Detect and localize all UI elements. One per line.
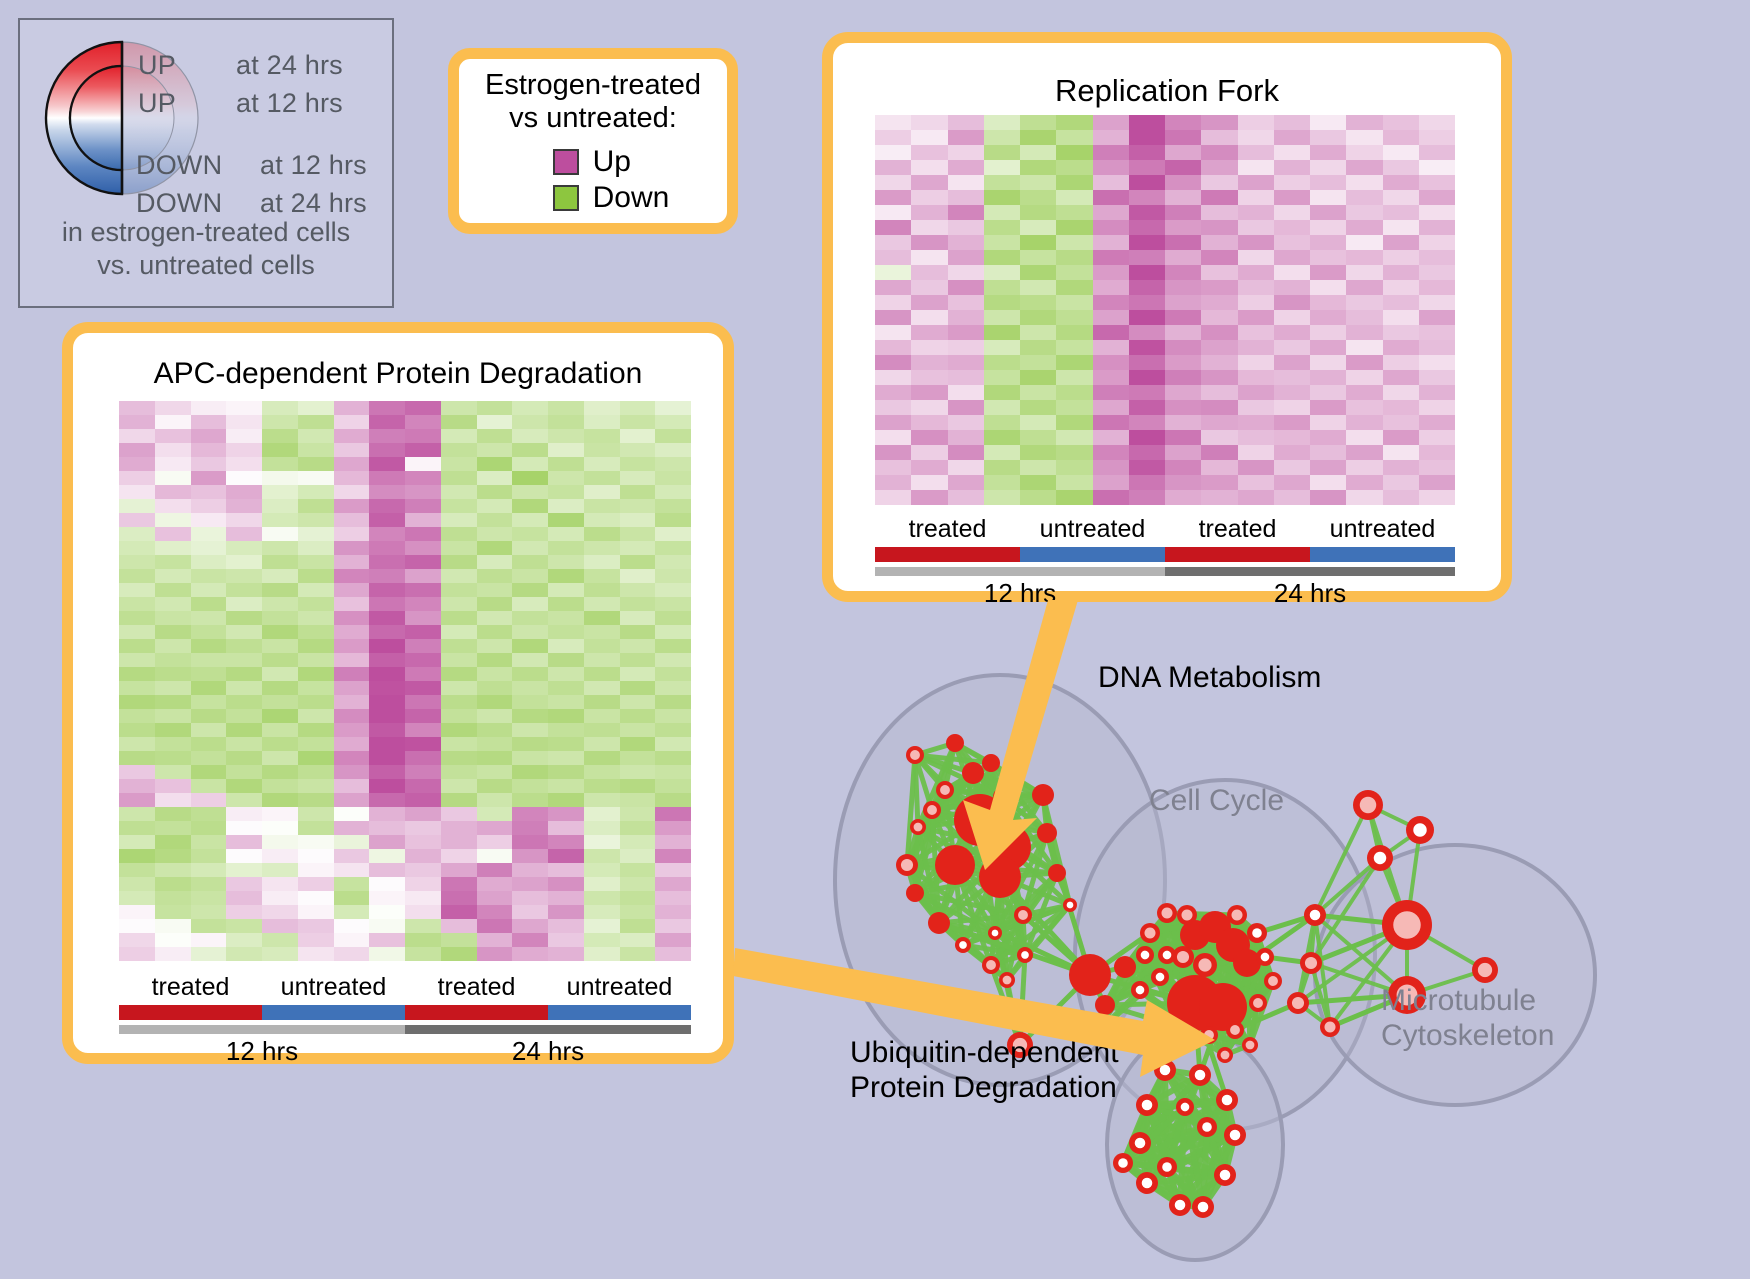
heatmap-cell	[548, 457, 584, 471]
heatmap-cell	[1020, 310, 1056, 325]
heatmap-cell	[369, 499, 405, 513]
heatmap-cell	[1383, 250, 1419, 265]
heatmap-cell	[655, 457, 691, 471]
heatmap-cell	[512, 905, 548, 919]
heatmap-cell	[655, 555, 691, 569]
heatmap-cell	[548, 723, 584, 737]
heatmap-cell	[512, 415, 548, 429]
heatmap-cell	[119, 415, 155, 429]
heatmap-cell	[334, 401, 370, 415]
heatmap-cell	[441, 695, 477, 709]
heatmap-cell	[1129, 190, 1165, 205]
heatmap-cell	[226, 933, 262, 947]
heatmap-cell	[1383, 325, 1419, 340]
heatmap-cell	[262, 709, 298, 723]
heatmap-cell	[334, 457, 370, 471]
heatmap-cell	[119, 499, 155, 513]
heatmap-cell	[548, 583, 584, 597]
cluster-label-dna-metabolism: DNA Metabolism	[1098, 660, 1321, 695]
heatmap-cell	[155, 807, 191, 821]
heatmap-cell	[369, 667, 405, 681]
heatmap-cell	[226, 751, 262, 765]
heatmap-cell	[155, 429, 191, 443]
heatmap-cell	[226, 863, 262, 877]
heatmap-cell	[298, 863, 334, 877]
heatmap-cell	[984, 265, 1020, 280]
sample-group-bar	[1165, 547, 1310, 562]
heatmap-cell	[155, 695, 191, 709]
heatmap-cell	[1383, 310, 1419, 325]
heatmap-cell	[477, 723, 513, 737]
heatmap-cell	[119, 737, 155, 751]
heatmap-cell	[1093, 370, 1129, 385]
network-node-core	[1310, 910, 1321, 921]
heatmap-cell	[1310, 340, 1346, 355]
heatmap-cell	[405, 919, 441, 933]
heatmap-cell	[1201, 145, 1237, 160]
heatmap-cell	[548, 765, 584, 779]
heatmap-cell	[1020, 385, 1056, 400]
heatmap-cell	[119, 513, 155, 527]
heatmap-cell	[1093, 460, 1129, 475]
heatmap-cell	[191, 947, 227, 961]
heatmap-cell	[155, 765, 191, 779]
heatmap-cell	[155, 751, 191, 765]
heatmap-cell	[584, 667, 620, 681]
heatmap-cell	[548, 541, 584, 555]
heatmap-cell	[1310, 490, 1346, 505]
heatmap-cell	[911, 370, 947, 385]
heatmap-cell	[441, 821, 477, 835]
heatmap-cell	[1129, 325, 1165, 340]
network-node-core	[1292, 997, 1304, 1009]
heatmap-cell	[584, 513, 620, 527]
heatmap-cell	[477, 695, 513, 709]
heatmap-cell	[875, 295, 911, 310]
heatmap-cell	[620, 807, 656, 821]
network-node-core	[1136, 986, 1145, 995]
heatmap-cell	[548, 849, 584, 863]
network-node	[962, 762, 984, 784]
network-node-core	[1261, 953, 1270, 962]
heatmap-cell	[655, 639, 691, 653]
heatmap-cell	[512, 639, 548, 653]
heatmap-cell	[1310, 400, 1346, 415]
network-node-core	[1135, 1138, 1146, 1149]
heatmap-cell	[226, 569, 262, 583]
heatmap-cell	[1346, 280, 1382, 295]
heatmap-cell	[1383, 265, 1419, 280]
heatmap-cell	[1129, 340, 1165, 355]
network-node-core	[959, 941, 967, 949]
heatmap-cell	[477, 863, 513, 877]
time-group-bar	[1165, 567, 1455, 576]
heatmap-cell	[1238, 190, 1274, 205]
heatmap-cell	[298, 653, 334, 667]
heatmap-cell	[655, 569, 691, 583]
heatmap-cell	[441, 471, 477, 485]
network-node-core	[992, 930, 999, 937]
heatmap-cell	[334, 443, 370, 457]
heatmap-cell	[334, 877, 370, 891]
heatmap-cell	[984, 445, 1020, 460]
heatmap-cell	[620, 471, 656, 485]
heatmap-cell	[119, 569, 155, 583]
heatmap-cell	[911, 160, 947, 175]
cluster-label-ubiquitin: Ubiquitin-dependent Protein Degradation	[850, 1035, 1119, 1106]
heatmap-cell	[512, 779, 548, 793]
heatmap-cell	[620, 737, 656, 751]
heatmap-cell	[875, 475, 911, 490]
heatmap-cell	[655, 807, 691, 821]
heatmap-cell	[1238, 355, 1274, 370]
heatmap-cell	[984, 160, 1020, 175]
heatmap-cell	[1310, 415, 1346, 430]
heatmap-cell	[548, 877, 584, 891]
heatmap-cell	[1056, 265, 1092, 280]
heatmap-cell	[441, 625, 477, 639]
heatmap-cell	[155, 443, 191, 457]
cluster-label-microtubule-line2: Cytoskeleton	[1381, 1018, 1554, 1053]
heatmap-cell	[1383, 280, 1419, 295]
heatmap-cell	[119, 779, 155, 793]
heatmap-cell	[1383, 490, 1419, 505]
heatmap-cell	[584, 919, 620, 933]
cluster-label-ubiquitin-line2: Protein Degradation	[850, 1070, 1119, 1105]
heatmap-cell	[1129, 355, 1165, 370]
network-node-core	[1175, 1200, 1186, 1211]
heatmap-cell	[369, 905, 405, 919]
network-node	[906, 884, 924, 902]
heatmap-cell	[548, 429, 584, 443]
updown-legend-title-line1: Estrogen-treated	[485, 69, 701, 102]
network-node-core	[1142, 1178, 1153, 1189]
heatmap-cell	[911, 250, 947, 265]
heatmap-cell	[477, 597, 513, 611]
heatmap-cell	[1165, 205, 1201, 220]
heatmap-cell	[620, 639, 656, 653]
heatmap-cell	[1310, 160, 1346, 175]
heatmap-cell	[1238, 475, 1274, 490]
heatmap-cell	[441, 765, 477, 779]
heatmap-cell	[1129, 280, 1165, 295]
heatmap-cell	[1346, 220, 1382, 235]
heatmap-cell	[298, 695, 334, 709]
heatmap-cell	[655, 541, 691, 555]
heatmap-cell	[405, 541, 441, 555]
heatmap-cell	[1419, 325, 1455, 340]
heatmap-cell	[584, 807, 620, 821]
heatmap-cell	[1346, 160, 1382, 175]
heatmap-cell	[1093, 205, 1129, 220]
heatmap-cell	[655, 429, 691, 443]
heatmap-cell	[119, 443, 155, 457]
heatmap-cell	[1056, 145, 1092, 160]
heatmap-cell	[226, 611, 262, 625]
heatmap-cell	[334, 933, 370, 947]
heatmap-cell	[512, 765, 548, 779]
heatmap-cell	[119, 793, 155, 807]
heatmap-cell	[191, 765, 227, 779]
heatmap-cell	[1238, 205, 1274, 220]
time-group-bar	[405, 1025, 691, 1034]
heatmap-cell	[655, 597, 691, 611]
heatmap-cell	[655, 415, 691, 429]
heatmap-cell	[1093, 280, 1129, 295]
heatmap-cell	[1419, 250, 1455, 265]
heatmap-cell	[441, 905, 477, 919]
heatmap-cell	[1310, 175, 1346, 190]
heatmap-cell	[226, 555, 262, 569]
heatmap-cell	[512, 695, 548, 709]
heatmap-cell	[262, 625, 298, 639]
heatmap-cell	[1201, 310, 1237, 325]
heatmap-cell	[512, 723, 548, 737]
heatmap-cell	[155, 709, 191, 723]
heatmap-cell	[369, 513, 405, 527]
heatmap-cell	[441, 751, 477, 765]
heatmap-cell	[984, 175, 1020, 190]
heatmap-cell	[369, 597, 405, 611]
heatmap-cell	[1129, 115, 1165, 130]
network-node-core	[1175, 1023, 1184, 1032]
heatmap-cell	[984, 220, 1020, 235]
network-node-core	[1360, 797, 1377, 814]
heatmap-cell	[155, 485, 191, 499]
heatmap-cell	[548, 933, 584, 947]
heatmap-cell	[1201, 370, 1237, 385]
heatmap-cell	[911, 220, 947, 235]
heatmap-cell	[119, 695, 155, 709]
heatmap-cell	[655, 891, 691, 905]
time-group-label: 12 hrs	[875, 578, 1165, 609]
heatmap-cell	[405, 765, 441, 779]
heatmap-cell	[548, 947, 584, 961]
heatmap-cell	[1274, 355, 1310, 370]
network-node	[928, 912, 950, 934]
sample-group-label: treated	[405, 973, 548, 1005]
heatmap-cell	[584, 751, 620, 765]
heatmap-cell	[911, 310, 947, 325]
heatmap-cell	[262, 583, 298, 597]
updown-legend-title: Estrogen-treated vs untreated:	[485, 69, 701, 136]
heatmap-cell	[1201, 430, 1237, 445]
heatmap-cell	[369, 541, 405, 555]
heatmap-cell	[1201, 115, 1237, 130]
colorwheel-caption-line2: vs. untreated cells	[20, 249, 392, 282]
heatmap-cell	[441, 793, 477, 807]
heatmap-cell	[584, 737, 620, 751]
heatmap-cell	[191, 751, 227, 765]
heatmap-cell	[911, 415, 947, 430]
heatmap-cell	[548, 807, 584, 821]
apc-sample-names: treateduntreatedtreateduntreated	[119, 973, 691, 1005]
heatmap-cell	[369, 485, 405, 499]
heatmap-cell	[334, 569, 370, 583]
heatmap-cell	[911, 475, 947, 490]
heatmap-cell	[334, 779, 370, 793]
heatmap-cell	[548, 513, 584, 527]
heatmap-cell	[1093, 175, 1129, 190]
heatmap-cell	[1020, 295, 1056, 310]
heatmap-cell	[477, 933, 513, 947]
heatmap-cell	[1310, 115, 1346, 130]
heatmap-cell	[155, 541, 191, 555]
heatmap-cell	[191, 429, 227, 443]
heatmap-cell	[1020, 460, 1056, 475]
heatmap-cell	[1310, 355, 1346, 370]
heatmap-cell	[262, 541, 298, 555]
heatmap-cell	[1129, 460, 1165, 475]
heatmap-cell	[1056, 205, 1092, 220]
heatmap-cell	[262, 653, 298, 667]
heatmap-cell	[911, 115, 947, 130]
sample-group-bar	[405, 1005, 548, 1020]
updown-legend-panel: Estrogen-treated vs untreated: Up Down	[448, 48, 738, 234]
heatmap-cell	[298, 765, 334, 779]
heatmap-cell	[441, 863, 477, 877]
heatmap-cell	[948, 295, 984, 310]
heatmap-cell	[298, 835, 334, 849]
heatmap-cell	[334, 891, 370, 905]
heatmap-cell	[1165, 370, 1201, 385]
heatmap-cell	[548, 555, 584, 569]
network-node-core	[1252, 928, 1262, 938]
heatmap-cell	[875, 430, 911, 445]
heatmap-cell	[1020, 400, 1056, 415]
heatmap-cell	[655, 723, 691, 737]
heatmap-cell	[191, 667, 227, 681]
heatmap-cell	[155, 905, 191, 919]
heatmap-cell	[984, 385, 1020, 400]
network-node-core	[901, 859, 913, 871]
heatmap-cell	[119, 919, 155, 933]
heatmap-cell	[369, 793, 405, 807]
heatmap-cell	[1201, 415, 1237, 430]
heatmap-cell	[369, 443, 405, 457]
heatmap-cell	[1274, 325, 1310, 340]
heatmap-cell	[298, 737, 334, 751]
network-node-core	[1253, 998, 1263, 1008]
heatmap-cell	[1274, 250, 1310, 265]
heatmap-cell	[1129, 235, 1165, 250]
heatmap-cell	[441, 807, 477, 821]
heatmap-cell	[441, 709, 477, 723]
network-node-core	[910, 750, 920, 760]
legend-item-up: Up	[553, 145, 670, 179]
heatmap-cell	[620, 415, 656, 429]
heatmap-cell	[334, 947, 370, 961]
network-node	[1069, 954, 1111, 996]
heatmap-cell	[334, 499, 370, 513]
sample-group-label: untreated	[262, 973, 405, 1005]
heatmap-cell	[191, 569, 227, 583]
heatmap-cell	[298, 443, 334, 457]
heatmap-cell	[1383, 355, 1419, 370]
heatmap-cell	[477, 429, 513, 443]
heatmap-cell	[984, 490, 1020, 505]
heatmap-cell	[512, 709, 548, 723]
heatmap-cell	[1274, 475, 1310, 490]
figure-canvas: UP at 24 hrs UP at 12 hrs DOWN at 12 hrs…	[0, 0, 1750, 1279]
heatmap-cell	[477, 583, 513, 597]
heatmap-cell	[334, 583, 370, 597]
heatmap-cell	[1238, 220, 1274, 235]
heatmap-cell	[334, 821, 370, 835]
heatmap-cell	[405, 611, 441, 625]
heatmap-cell	[1129, 145, 1165, 160]
heatmap-cell	[620, 821, 656, 835]
heatmap-cell	[1274, 190, 1310, 205]
heatmap-cell	[584, 485, 620, 499]
heatmap-cell	[1346, 265, 1382, 280]
heatmap-cell	[477, 751, 513, 765]
heatmap-cell	[405, 821, 441, 835]
heatmap-cell	[226, 625, 262, 639]
heatmap-cell	[298, 639, 334, 653]
heatmap-cell	[1274, 145, 1310, 160]
heatmap-cell	[405, 443, 441, 457]
heatmap-cell	[155, 877, 191, 891]
heatmap-cell	[441, 835, 477, 849]
network-node-core	[1181, 1103, 1190, 1112]
heatmap-cell	[911, 355, 947, 370]
heatmap-cell	[1274, 490, 1310, 505]
updown-legend-title-line2: vs untreated:	[485, 102, 701, 135]
heatmap-cell	[620, 765, 656, 779]
heatmap-cell	[1238, 115, 1274, 130]
heatmap-cell	[262, 569, 298, 583]
heatmap-cell	[1346, 400, 1382, 415]
heatmap-cell	[1201, 130, 1237, 145]
heatmap-cell	[548, 667, 584, 681]
apc-degradation-heatmap	[119, 401, 691, 961]
network-node-core	[1018, 910, 1028, 920]
heatmap-cell	[477, 807, 513, 821]
heatmap-cell	[1129, 295, 1165, 310]
heatmap-cell	[1383, 115, 1419, 130]
heatmap-cell	[1093, 115, 1129, 130]
heatmap-cell	[1129, 385, 1165, 400]
heatmap-cell	[911, 385, 947, 400]
heatmap-cell	[548, 835, 584, 849]
heatmap-cell	[1346, 325, 1382, 340]
heatmap-cell	[620, 625, 656, 639]
up-swatch-icon	[553, 149, 579, 175]
network-node-core	[1198, 1202, 1209, 1213]
legend-down-12-time: at 12 hrs	[260, 150, 367, 181]
heatmap-cell	[948, 190, 984, 205]
heatmap-cell	[1093, 355, 1129, 370]
heatmap-cell	[620, 933, 656, 947]
heatmap-cell	[155, 737, 191, 751]
heatmap-cell	[984, 280, 1020, 295]
heatmap-cell	[477, 947, 513, 961]
heatmap-cell	[620, 541, 656, 555]
sample-group-label: treated	[1165, 515, 1310, 547]
heatmap-cell	[1056, 355, 1092, 370]
network-node	[979, 856, 1021, 898]
heatmap-cell	[191, 527, 227, 541]
heatmap-cell	[948, 205, 984, 220]
heatmap-cell	[948, 400, 984, 415]
heatmap-cell	[405, 695, 441, 709]
legend-down-24-label: DOWN	[136, 188, 222, 219]
heatmap-cell	[262, 667, 298, 681]
heatmap-cell	[405, 849, 441, 863]
heatmap-cell	[191, 401, 227, 415]
heatmap-cell	[512, 555, 548, 569]
